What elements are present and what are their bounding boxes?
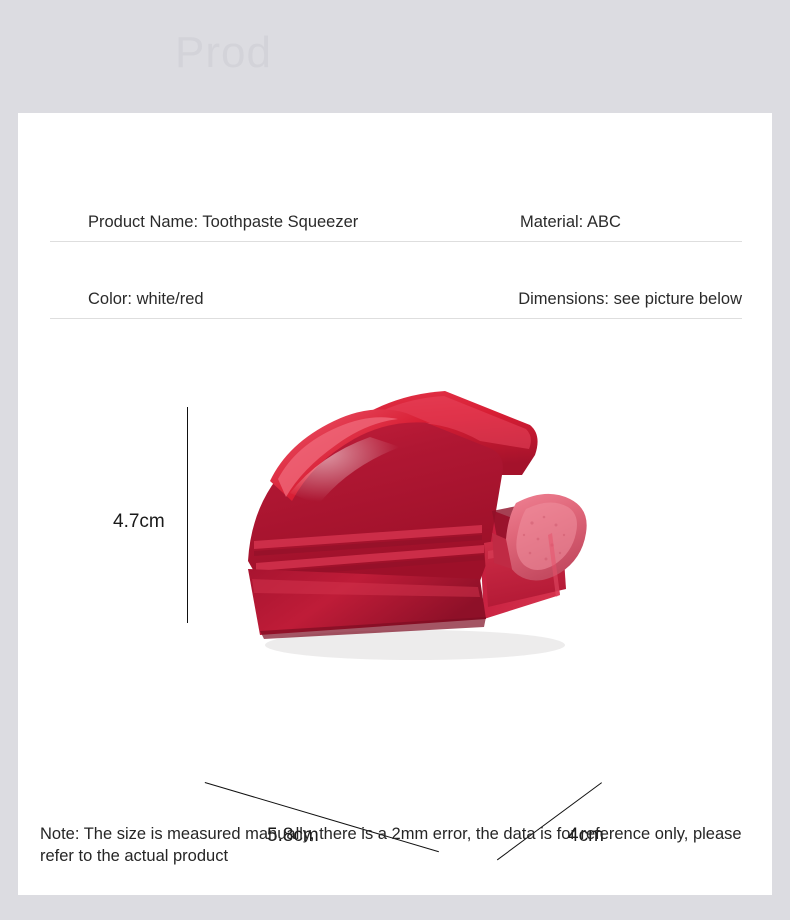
spec-product-name: Product Name: Toothpaste Squeezer xyxy=(50,213,488,241)
watermark-text: Prod xyxy=(175,28,272,78)
specification-table: Product Name: Toothpaste Squeezer Materi… xyxy=(50,185,742,319)
spec-color: Color: white/red xyxy=(50,290,486,318)
spec-material: Material: ABC xyxy=(488,213,621,241)
content-panel: Product Name: Toothpaste Squeezer Materi… xyxy=(18,113,772,895)
product-figure: 4.7cm 5.8cm 4cm xyxy=(18,383,772,783)
spec-row: Product Name: Toothpaste Squeezer Materi… xyxy=(50,185,742,242)
height-dimension-label: 4.7cm xyxy=(113,511,165,533)
spec-dimensions: Dimensions: see picture below xyxy=(486,290,742,318)
measurement-note: Note: The size is measured manually, the… xyxy=(40,823,756,868)
spec-row: Color: white/red Dimensions: see picture… xyxy=(50,242,742,319)
product-image-toothpaste-squeezer xyxy=(230,383,630,673)
height-dimension-line xyxy=(187,407,188,623)
